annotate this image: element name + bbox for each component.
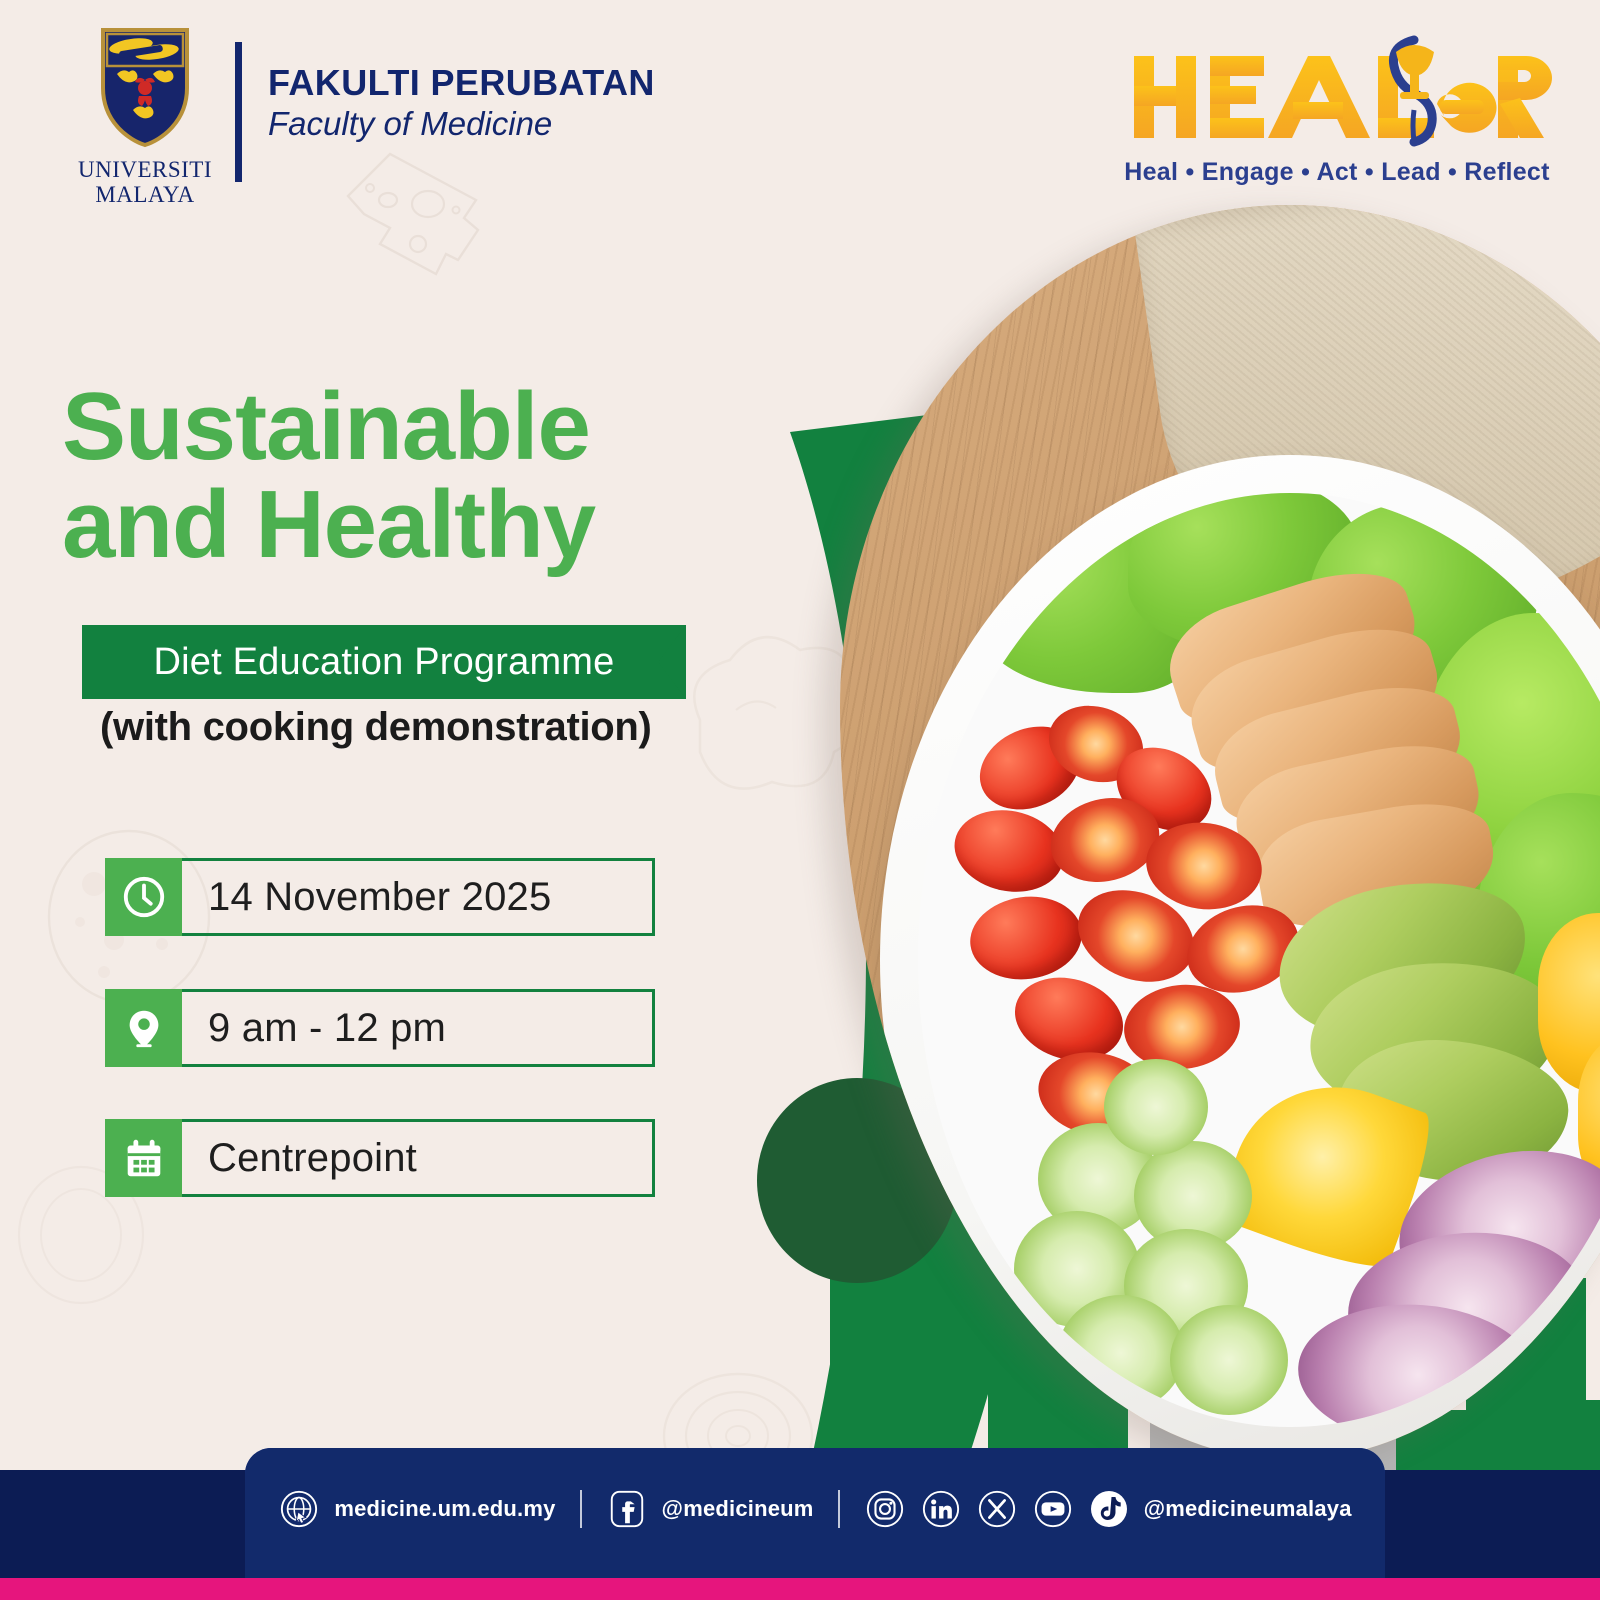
- location-pin-icon: [105, 989, 182, 1067]
- title-subnote: (with cooking demonstration): [100, 705, 652, 750]
- detail-row-time: 9 am - 12 pm: [105, 989, 655, 1067]
- title-line2: and Healthy: [62, 476, 762, 574]
- footer-accent-bar: [0, 1578, 1600, 1600]
- healer-logo: Heal • Engage • Act • Lead • Reflect: [1122, 28, 1552, 193]
- poster-title: Sustainable and Healthy: [62, 378, 762, 574]
- x-twitter-icon[interactable]: [976, 1488, 1018, 1530]
- um-shield-crest-icon: [99, 26, 191, 148]
- poster-canvas: UNIVERSITI MALAYA FAKULTI PERUBATAN Facu…: [0, 0, 1600, 1600]
- faculty-name: FAKULTI PERUBATAN Faculty of Medicine: [268, 62, 655, 144]
- facebook-icon[interactable]: [606, 1488, 648, 1530]
- instagram-icon[interactable]: [864, 1488, 906, 1530]
- detail-row-venue: Centrepoint: [105, 1119, 655, 1197]
- title-line1: Sustainable: [62, 378, 762, 476]
- detail-venue-box: Centrepoint: [182, 1119, 655, 1197]
- detail-row-date: 14 November 2025: [105, 858, 655, 936]
- detail-date-label: 14 November 2025: [208, 875, 551, 920]
- footer-separator-1: [580, 1490, 582, 1528]
- footer-contacts: medicine.um.edu.my @medicineum: [245, 1448, 1385, 1570]
- globe-cursor-icon[interactable]: [278, 1488, 320, 1530]
- faculty-name-english: Faculty of Medicine: [268, 104, 655, 144]
- detail-time-label: 9 am - 12 pm: [208, 1006, 446, 1051]
- university-name-line2: MALAYA: [62, 182, 228, 207]
- calendar-icon: [105, 1119, 182, 1197]
- poster-header: UNIVERSITI MALAYA FAKULTI PERUBATAN Facu…: [0, 0, 1600, 210]
- healer-tagline: Heal • Engage • Act • Lead • Reflect: [1122, 158, 1552, 187]
- footer-separator-2: [838, 1490, 840, 1528]
- university-name-line1: UNIVERSITI: [62, 157, 228, 182]
- footer-website-label[interactable]: medicine.um.edu.my: [334, 1496, 555, 1522]
- clock-icon: [105, 858, 182, 936]
- tiktok-icon[interactable]: [1088, 1488, 1130, 1530]
- salad-bowl-photo: [840, 205, 1600, 1460]
- university-logo: UNIVERSITI MALAYA: [62, 26, 228, 196]
- footer-facebook-label[interactable]: @medicineum: [662, 1496, 814, 1522]
- healer-wordmark: [1122, 28, 1552, 158]
- faculty-name-malay: FAKULTI PERUBATAN: [268, 62, 655, 104]
- youtube-icon[interactable]: [1032, 1488, 1074, 1530]
- ribbon-banner-label: Diet Education Programme: [82, 625, 686, 699]
- detail-time-box: 9 am - 12 pm: [182, 989, 655, 1067]
- linkedin-icon[interactable]: [920, 1488, 962, 1530]
- footer-social-handle[interactable]: @medicineumalaya: [1144, 1496, 1352, 1522]
- detail-venue-label: Centrepoint: [208, 1136, 417, 1181]
- header-divider: [235, 42, 242, 182]
- university-name: UNIVERSITI MALAYA: [62, 157, 228, 207]
- detail-date-box: 14 November 2025: [182, 858, 655, 936]
